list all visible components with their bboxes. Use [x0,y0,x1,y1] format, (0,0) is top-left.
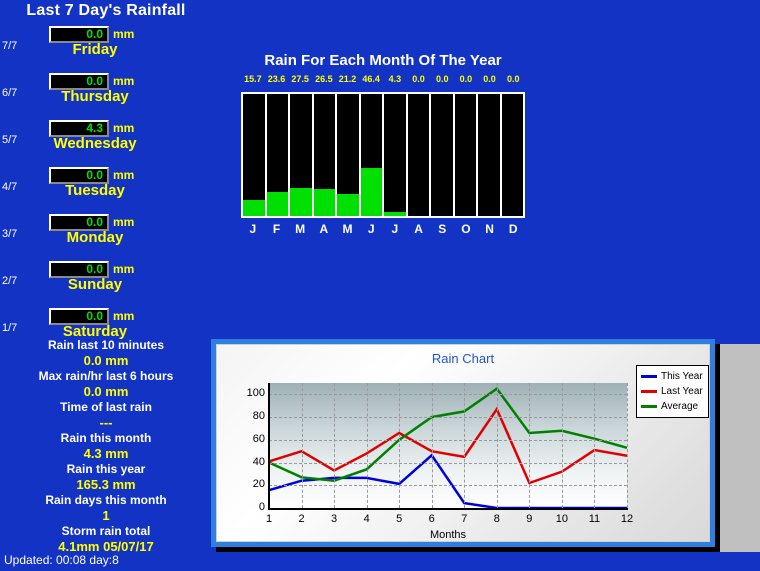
unit-label: mm [113,74,134,88]
bar-column [478,94,500,216]
legend-item: Average [641,399,704,414]
gridline-horizontal [269,394,627,395]
monthly-rain-bar-chart [241,92,525,218]
day-name: Thursday [0,88,190,105]
stat-value: 1 [0,508,212,524]
day-rainfall-value: 0.0 [51,75,107,88]
monthly-rain-value-labels: 15.723.627.526.521.246.44.30.00.00.00.00… [241,74,525,86]
y-axis-line [268,383,270,509]
gridline-vertical [562,383,563,508]
unit-label: mm [113,215,134,229]
bar-month-label: A [312,222,336,236]
day-name: Sunday [0,276,190,293]
y-tick-label: 40 [225,456,265,468]
legend-label: This Year [661,371,703,382]
unit-label: mm [113,27,134,41]
stat-label: Time of last rain [0,400,212,415]
bar-value-label: 26.5 [312,74,336,86]
bar-column [243,94,265,216]
legend-color-swatch [641,390,657,393]
bar-column [455,94,477,216]
stat-label: Storm rain total [0,524,212,539]
panel-background-filler [715,344,760,552]
bar-fill [267,192,289,216]
bar-month-label: J [383,222,407,236]
stat-label: Max rain/hr last 6 hours [0,369,212,384]
bar-month-label: D [501,222,525,236]
day-rainfall-row: 4/70.0mmTuesday [0,167,212,215]
y-axis-tick-labels: 020406080100 [217,383,265,509]
unit-label: mm [113,262,134,276]
stat-label: Rain this month [0,431,212,446]
series-line [269,389,627,481]
day-rainfall-row: 3/70.0mmMonday [0,214,212,262]
legend-item: This Year [641,369,704,384]
stat-value: 0.0 mm [0,384,212,400]
y-tick-label: 60 [225,433,265,445]
series-line [269,409,627,483]
bar-value-label: 0.0 [454,74,478,86]
bar-month-label: J [359,222,383,236]
bar-value-label: 0.0 [407,74,431,86]
stat-value: 4.3 mm [0,446,212,462]
day-rainfall-value: 0.0 [51,310,107,323]
day-rainfall-value: 0.0 [51,28,107,41]
legend-color-swatch [641,405,657,408]
gridline-horizontal [269,485,627,486]
gridline-vertical [367,383,368,508]
x-tick-label: 9 [514,513,544,525]
stat-label: Rain this year [0,462,212,477]
day-rainfall-row: 6/70.0mmThursday [0,73,212,121]
bar-column [384,94,406,216]
gridline-vertical [464,383,465,508]
bar-value-label: 15.7 [241,74,265,86]
bar-fill [384,212,406,216]
y-tick-label: 100 [225,387,265,399]
gridline-vertical [432,383,433,508]
bar-value-label: 46.4 [359,74,383,86]
page-title: Last 7 Day's Rainfall [0,2,212,20]
monthly-rain-month-labels: JFMAMJJASOND [241,222,525,236]
gridline-vertical [627,383,628,508]
gridline-vertical [302,383,303,508]
bar-value-label: 21.2 [336,74,360,86]
bar-value-label: 0.0 [478,74,502,86]
bar-month-label: O [454,222,478,236]
bar-month-label: J [241,222,265,236]
bar-column [408,94,430,216]
rain-chart-panel: Rain Chart 020406080100 123456789101112 … [211,339,715,547]
day-rainfall-row: 5/74.3mmWednesday [0,120,212,168]
x-tick-label: 12 [612,513,642,525]
legend-item: Last Year [641,384,704,399]
gridline-vertical [334,383,335,508]
day-rainfall-row: 2/70.0mmSunday [0,261,212,309]
y-tick-label: 0 [225,501,265,513]
monthly-rain-chart-title: Rain For Each Month Of The Year [238,52,528,69]
x-tick-label: 10 [547,513,577,525]
bar-value-label: 27.5 [288,74,312,86]
legend-color-swatch [641,375,657,378]
x-tick-label: 6 [417,513,447,525]
gridline-vertical [399,383,400,508]
bar-column [502,94,524,216]
x-tick-label: 5 [384,513,414,525]
stat-value: --- [0,415,212,431]
day-rainfall-row: 7/70.0mmFriday [0,26,212,74]
x-tick-label: 7 [449,513,479,525]
x-tick-label: 11 [579,513,609,525]
day-name: Monday [0,229,190,246]
stat-value: 0.0 mm [0,353,212,369]
bar-column [337,94,359,216]
x-tick-label: 3 [319,513,349,525]
bar-month-label: M [288,222,312,236]
rain-chart-plot-area [269,383,627,508]
gridline-vertical [529,383,530,508]
bar-value-label: 0.0 [501,74,525,86]
unit-label: mm [113,309,134,323]
x-axis-title: Months [269,529,627,541]
day-name: Friday [0,41,190,58]
gridline-vertical [497,383,498,508]
bar-value-label: 23.6 [265,74,289,86]
bar-column [361,94,383,216]
bar-value-label: 4.3 [383,74,407,86]
unit-label: mm [113,121,134,135]
day-name: Tuesday [0,182,190,199]
bar-fill [314,189,336,216]
y-tick-label: 20 [225,478,265,490]
rain-chart-series-svg [269,383,627,508]
bar-fill [243,200,265,216]
y-tick-label: 80 [225,410,265,422]
unit-label: mm [113,168,134,182]
rain-chart-title: Rain Chart [217,351,709,366]
gridline-horizontal [269,463,627,464]
stat-label: Rain last 10 minutes [0,338,212,353]
bar-column [314,94,336,216]
legend-label: Average [661,401,698,412]
bar-month-label: F [265,222,289,236]
stat-label: Rain days this month [0,493,212,508]
legend-label: Last Year [661,386,703,397]
bar-column [290,94,312,216]
x-tick-label: 8 [482,513,512,525]
day-name: Wednesday [0,135,190,152]
x-tick-label: 4 [352,513,382,525]
bar-month-label: M [336,222,360,236]
bar-month-label: N [478,222,502,236]
stat-value: 165.3 mm [0,477,212,493]
bar-column [431,94,453,216]
bar-fill [337,194,359,216]
x-axis-line [268,508,628,510]
day-rainfall-value: 0.0 [51,216,107,229]
bar-month-label: S [430,222,454,236]
bar-fill [361,168,383,216]
bar-value-label: 0.0 [430,74,454,86]
bar-fill [290,188,312,216]
rainfall-sidebar: Last 7 Day's Rainfall 7/70.0mmFriday6/70… [0,0,212,571]
bar-month-label: A [407,222,431,236]
gridline-horizontal [269,440,627,441]
bar-column [267,94,289,216]
day-rainfall-value: 0.0 [51,169,107,182]
chart-legend: This YearLast YearAverage [636,365,709,418]
gridline-vertical [594,383,595,508]
x-tick-label: 2 [287,513,317,525]
gridline-horizontal [269,417,627,418]
day-rainfall-value: 4.3 [51,122,107,135]
day-rainfall-value: 0.0 [51,263,107,276]
rain-statistics: Rain last 10 minutes0.0 mmMax rain/hr la… [0,338,212,555]
x-tick-label: 1 [254,513,284,525]
status-bar: Updated: 00:08 day:8 [0,550,212,571]
